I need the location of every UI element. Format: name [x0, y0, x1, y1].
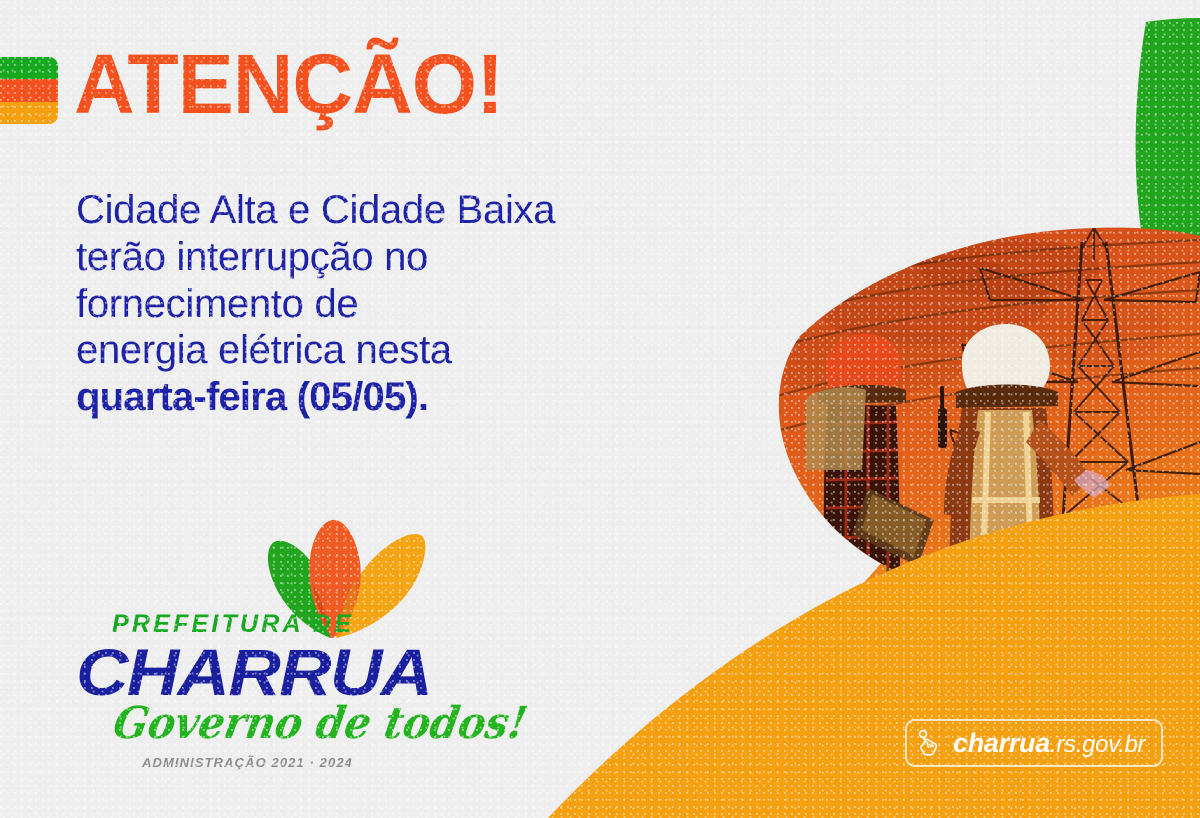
website-url-label: charrua.rs.gov.br [953, 728, 1145, 759]
logo-slogan-label: Governo de todos! [110, 698, 531, 749]
green-blade-shape [1136, 18, 1200, 250]
announcement-message: Cidade Alta e Cidade Baixa terão interru… [76, 187, 696, 421]
poster-canvas: ATENÇÃO! Cidade Alta e Cidade Baixa terã… [0, 0, 1200, 818]
logo-administration-label: ADMINISTRAÇÃO 2021 · 2024 [142, 755, 353, 770]
message-line-2: terão interrupção no [76, 234, 696, 281]
flag-stripe-orange [0, 79, 58, 101]
flag-stripe-green [0, 57, 58, 79]
message-line-4: energia elétrica nesta [76, 327, 696, 374]
flag-stripe-amber [0, 102, 58, 124]
pointing-hand-cursor-icon [915, 728, 943, 758]
attention-headline: ATENÇÃO! [74, 44, 503, 125]
tricolor-flag-bar [0, 57, 58, 124]
website-name: charrua [953, 728, 1050, 758]
message-line-3: fornecimento de [76, 281, 696, 328]
website-badge[interactable]: charrua.rs.gov.br [905, 719, 1163, 767]
message-line-1: Cidade Alta e Cidade Baixa [76, 187, 696, 234]
website-domain: .rs.gov.br [1050, 731, 1145, 758]
message-line-5-date: quarta-feira (05/05). [76, 374, 696, 421]
charrua-city-logo: PREFEITURA DE CHARRUA Governo de todos! … [84, 512, 444, 790]
